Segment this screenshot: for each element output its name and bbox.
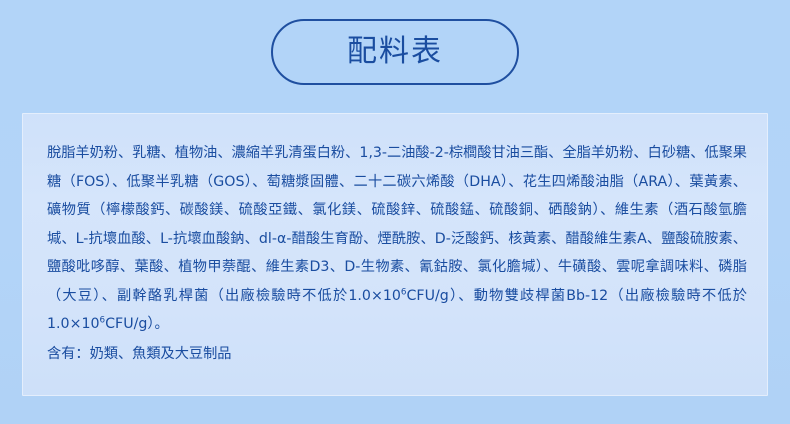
- title-section: 配料表: [0, 0, 790, 104]
- allergen-notice: 含有：奶類、魚類及大豆制品: [47, 342, 231, 366]
- page-title: 配料表: [347, 37, 443, 67]
- ingredients-text: 脫脂羊奶粉、乳糖、植物油、濃縮羊乳清蛋白粉、1‚3-二油酸-2-棕櫚酸甘油三酯、…: [47, 139, 747, 339]
- ingredients-panel: 脫脂羊奶粉、乳糖、植物油、濃縮羊乳清蛋白粉、1‚3-二油酸-2-棕櫚酸甘油三酯、…: [22, 113, 768, 396]
- ingredients-page: 配料表 脫脂羊奶粉、乳糖、植物油、濃縮羊乳清蛋白粉、1‚3-二油酸-2-棕櫚酸甘…: [0, 0, 790, 424]
- title-pill-badge: 配料表: [271, 19, 519, 85]
